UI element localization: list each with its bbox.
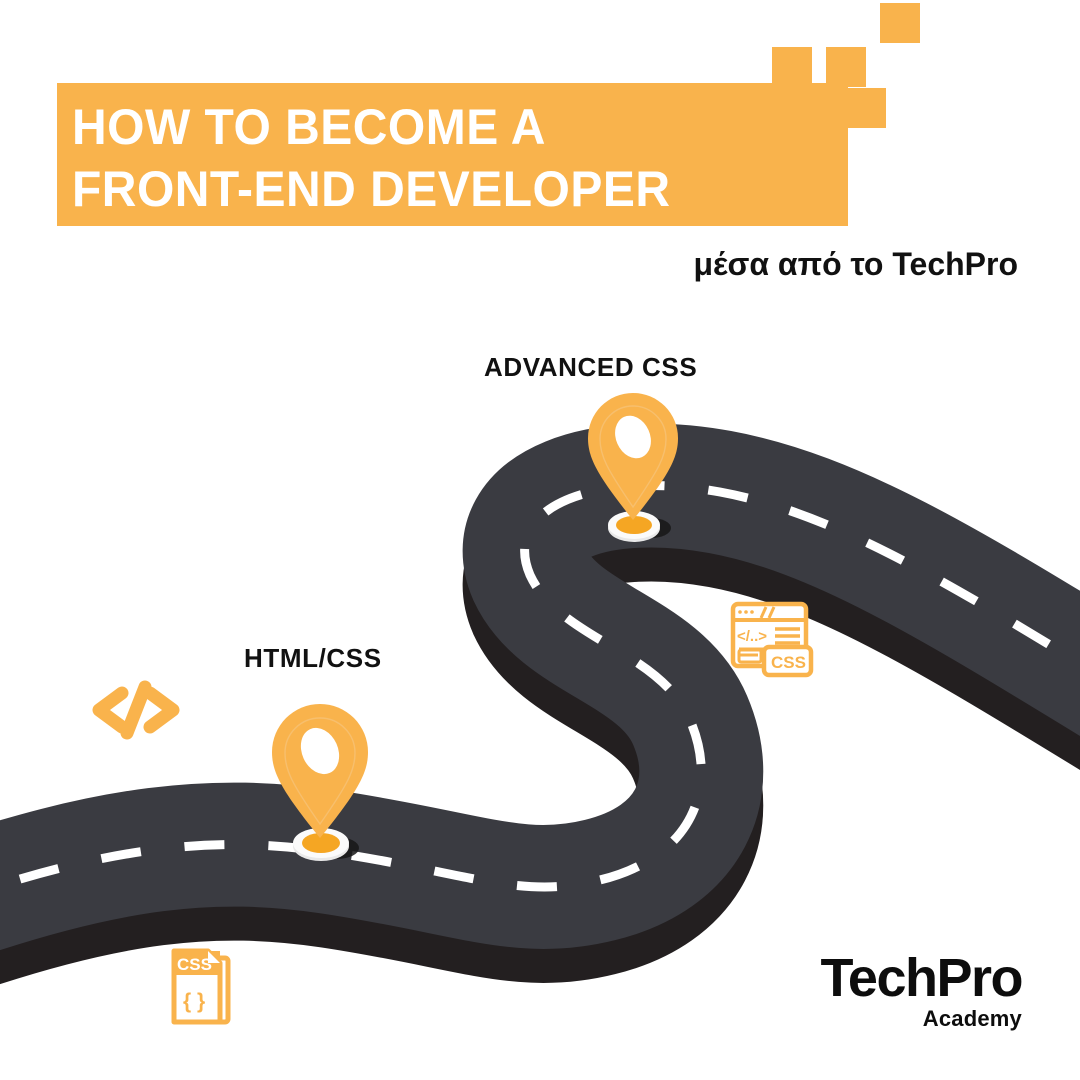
css-file-icon: CSS { } [174,951,228,1022]
logo-tagline: Academy [820,1006,1022,1032]
css-file-braces: { } [183,990,205,1013]
browser-code-glyph: </..> [737,628,767,645]
logo-wordmark: TechPro [820,952,1022,1004]
code-brackets-icon [99,687,173,733]
stop-label-html-css: HTML/CSS [244,643,382,674]
poster-canvas: HOW TO BECOME A FRONT-END DEVELOPER μέσα… [0,0,1080,1080]
browser-dot [744,610,748,614]
roadmap-illustration: CSS { } </..> [0,0,1080,1080]
stop-label-advanced-css: ADVANCED CSS [484,352,697,383]
browser-dot [738,610,742,614]
browser-css-window-icon: </..> CSS [733,604,811,675]
browser-dot [750,610,754,614]
css-badge-label: CSS [771,653,806,672]
css-file-label: CSS [177,955,212,974]
techpro-academy-logo[interactable]: TechPro Academy [820,952,1022,1032]
